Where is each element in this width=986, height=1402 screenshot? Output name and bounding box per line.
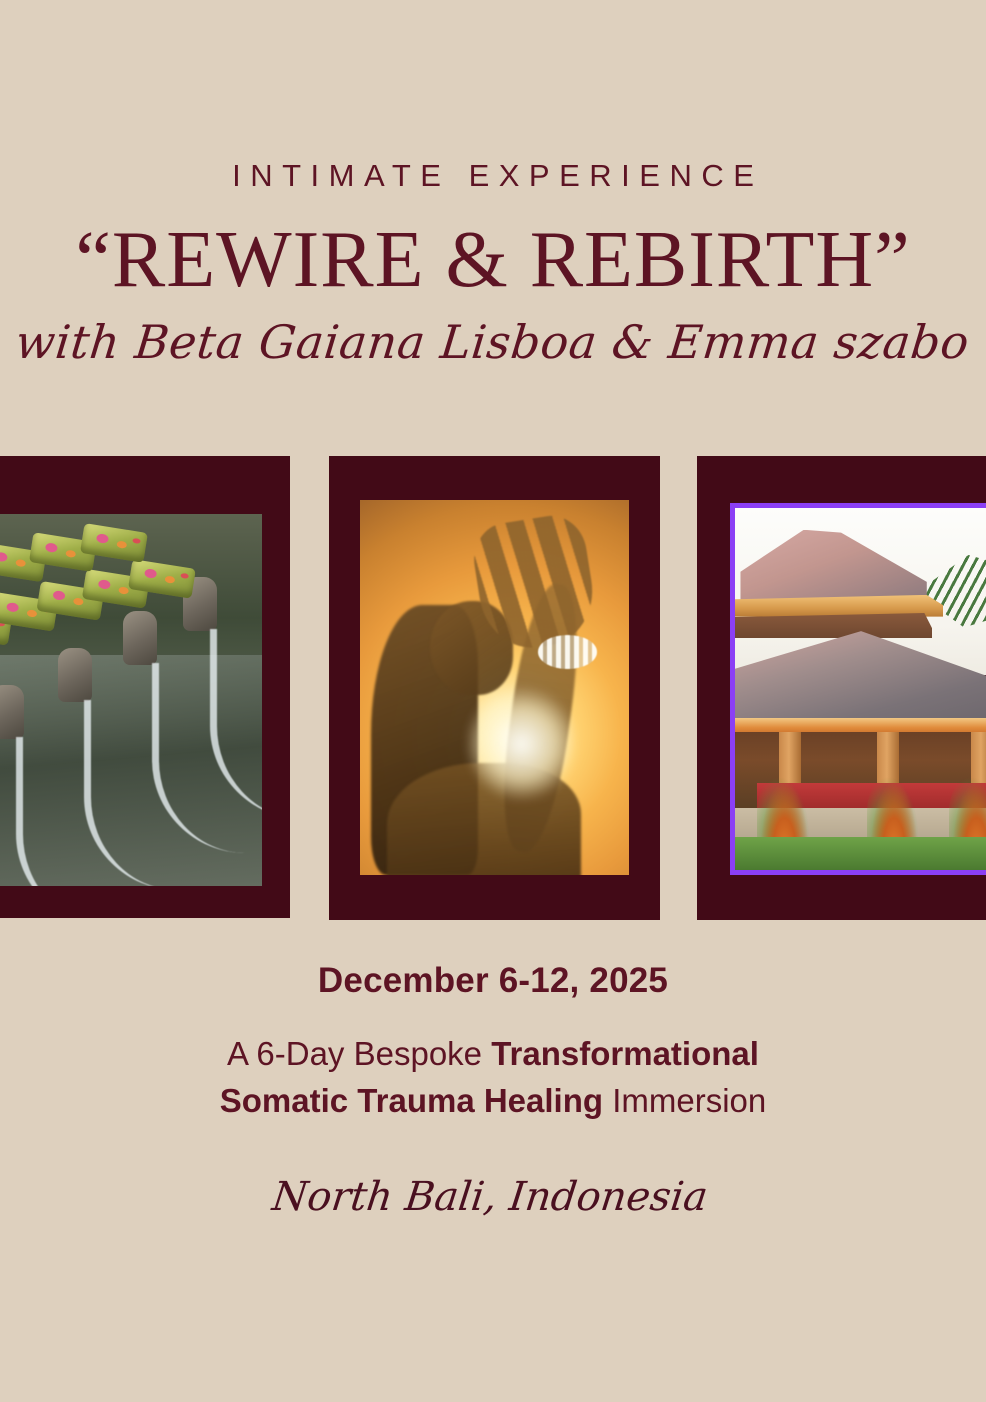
- photo-frame-right: [697, 456, 986, 920]
- page-title: “REWIRE & REBIRTH”: [0, 191, 986, 302]
- photo-artwork: [735, 508, 986, 870]
- retreat-description: A 6-Day Bespoke TransformationalSomatic …: [0, 1002, 986, 1125]
- description-prefix: A 6-Day Bespoke: [227, 1035, 491, 1072]
- retreat-flyer: INTIMATE EXPERIENCE “REWIRE & REBIRTH” w…: [0, 0, 986, 1402]
- clerestory-lattice: [735, 613, 932, 638]
- presenters-label: with Beta Gaiana Lisboa & Emma szabo: [0, 302, 986, 372]
- eyebrow-label: INTIMATE EXPERIENCE: [0, 0, 986, 191]
- photo-artwork: [0, 514, 262, 886]
- beaded-bracelet: [538, 635, 597, 669]
- woman-at-sunset-photo: [360, 500, 629, 875]
- details-block: December 6-12, 2025 A 6-Day Bespoke Tran…: [0, 960, 986, 1221]
- photo-artwork: [360, 500, 629, 875]
- balinese-villa-pavilion-photo: [730, 503, 986, 875]
- retreat-location: North Bali, Indonesia: [0, 1125, 986, 1221]
- description-emphasis-two: Somatic Trauma Healing: [220, 1082, 603, 1119]
- hedge-row: [735, 837, 986, 870]
- retreat-dates: December 6-12, 2025: [0, 960, 986, 1002]
- photo-frame-left: [0, 456, 290, 918]
- description-suffix: Immersion: [603, 1082, 766, 1119]
- balinese-water-temple-photo: [0, 514, 262, 886]
- header-block: INTIMATE EXPERIENCE “REWIRE & REBIRTH” w…: [0, 0, 986, 372]
- description-emphasis-one: Transformational: [491, 1035, 759, 1072]
- photo-gallery: [0, 456, 986, 922]
- sun-glow: [468, 688, 576, 801]
- photo-frame-center: [329, 456, 660, 920]
